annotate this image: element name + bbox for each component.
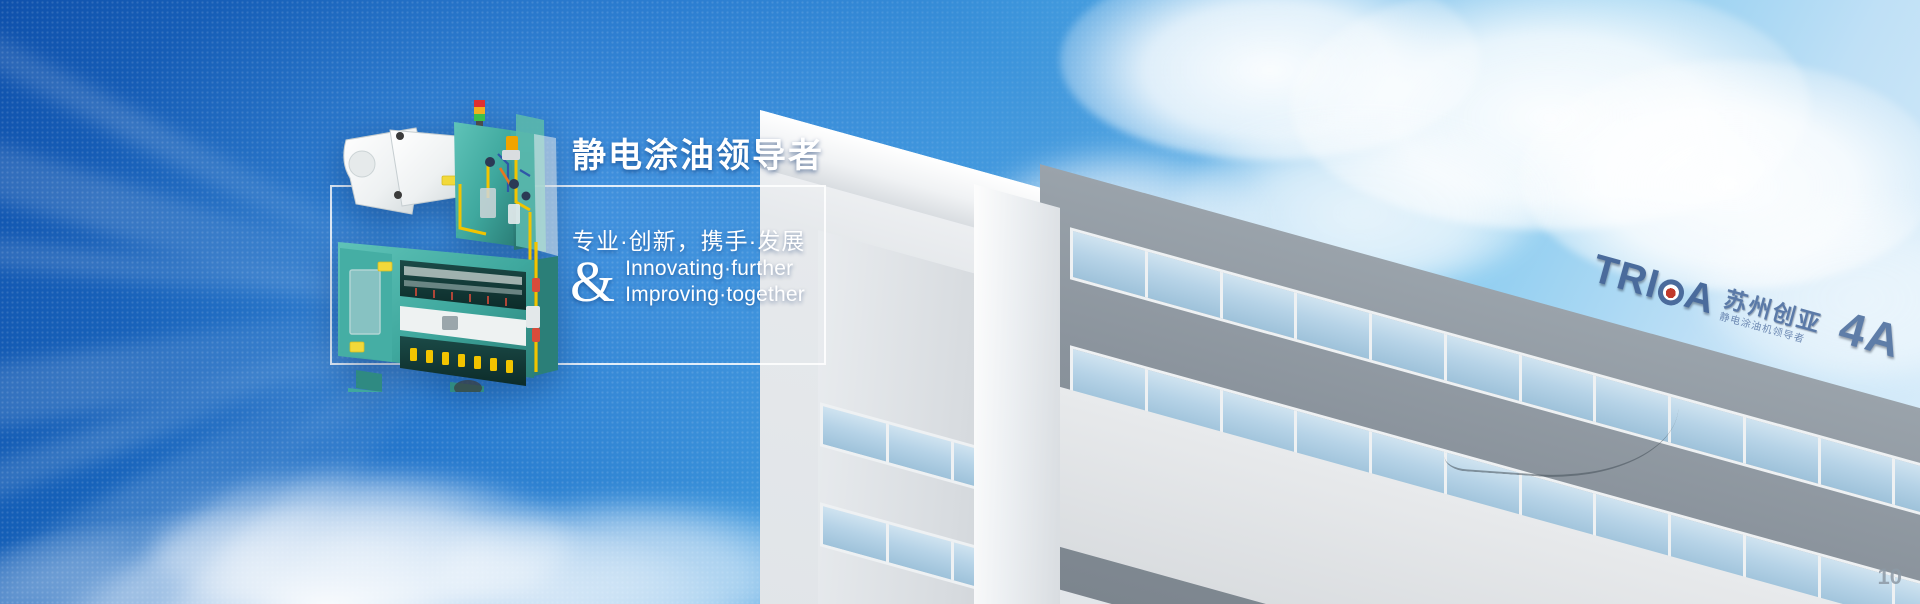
tagline-english-group: & Innovating·further Improving·together xyxy=(570,256,805,308)
hero-banner: TRIA 苏州创亚 静电涂油机领导者 4A 苏 州 创 亚 10 xyxy=(0,0,1920,604)
electrostatic-oiling-machine-image xyxy=(330,92,590,392)
factory-building: TRIA 苏州创亚 静电涂油机领导者 4A 苏 州 创 亚 10 xyxy=(760,0,1920,604)
page-title: 静电涂油领导者 xyxy=(572,128,824,177)
logo-ring-icon xyxy=(1655,277,1687,309)
building-corner-pillar xyxy=(974,184,1060,604)
building-block-label: 4A xyxy=(1833,300,1908,369)
brand-logo-text: TRIA xyxy=(1588,247,1721,324)
tagline-english-line2: Improving·together xyxy=(625,282,805,308)
roof-number-label: 10 xyxy=(1878,564,1902,590)
ampersand-glyph: & xyxy=(570,256,615,308)
tagline-english-line1: Innovating·further xyxy=(625,256,805,282)
